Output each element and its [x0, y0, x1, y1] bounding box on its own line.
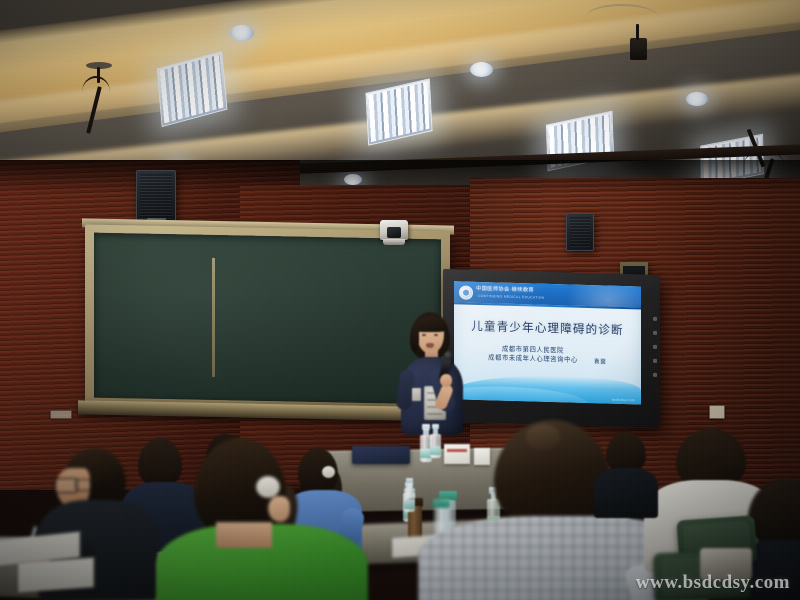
ear — [268, 496, 290, 522]
bezel-button[interactable] — [653, 359, 657, 363]
presenter-name-badge — [412, 388, 421, 401]
notebook-left-2 — [18, 557, 94, 592]
slide-presenter-name: 袁茵 — [594, 357, 606, 365]
bezel-button[interactable] — [653, 345, 657, 349]
bottle-label — [404, 500, 415, 508]
presenter-eye-right — [434, 334, 438, 336]
watermark: www.bsdcdsy.com — [636, 572, 790, 594]
slide-org-line-2: 成都市未成年人心理咨询中心 — [480, 353, 586, 365]
wall-top-shadow — [0, 160, 800, 194]
bezel-button[interactable] — [653, 373, 657, 377]
hanging-wire — [586, 4, 658, 30]
slide-organization: 成都市第四人民医院 成都市未成年人心理咨询中心 — [480, 344, 586, 365]
slide-wave-highlight — [454, 384, 589, 404]
presenter-hand — [440, 374, 452, 387]
wall-speaker-right — [566, 213, 594, 251]
bottle-body — [430, 434, 441, 458]
water-bottle-right-1 — [430, 424, 441, 458]
wall-speaker-left — [136, 170, 176, 226]
water-bottle-right-2 — [404, 478, 415, 512]
ceiling-hanging-fixture-right — [612, 10, 668, 70]
bezel-button[interactable] — [653, 317, 657, 321]
bottle-body — [404, 488, 415, 512]
wall-plate-left — [50, 410, 72, 419]
slide-footer-text: bsdcdsy.com — [612, 398, 635, 403]
fixture-rod — [636, 24, 639, 40]
downlight-2 — [470, 62, 493, 77]
wall-outlet — [709, 405, 725, 419]
audience-person-green-shirt — [172, 438, 352, 600]
slide-title: 儿童青少年心理障碍的诊断 — [454, 317, 641, 338]
projector-box — [630, 38, 647, 60]
camera-base — [383, 239, 405, 245]
eyeglasses-arm — [75, 479, 91, 491]
blackboard-panel-divider — [212, 258, 215, 377]
downlight-3 — [686, 92, 708, 106]
audience-person-far-right — [596, 432, 654, 508]
projection-screen: 中国医师协会·继续教育 CONTINUING MEDICAL EDUCATION… — [443, 269, 660, 428]
camera-body — [380, 220, 408, 240]
slide-header-text: 中国医师协会·继续教育 — [476, 286, 534, 294]
presenter-eye-left — [422, 334, 426, 336]
presentation-slide: 中国医师协会·继续教育 CONTINUING MEDICAL EDUCATION… — [454, 281, 641, 404]
ceiling-hanging-fixture-left — [78, 62, 118, 132]
downlight-1 — [230, 25, 254, 41]
bottle-label — [430, 446, 441, 454]
print-line — [427, 413, 443, 415]
speaker-grille — [570, 217, 590, 247]
presenter-mouth — [426, 343, 434, 348]
blackboard-surface — [94, 233, 441, 405]
slide-logo-icon — [459, 285, 473, 299]
folder-on-desk — [352, 446, 410, 464]
bezel-button[interactable] — [653, 331, 657, 335]
ptz-camera — [378, 216, 410, 246]
speaker-grille — [140, 174, 172, 222]
hair-part — [526, 424, 560, 450]
neck — [216, 522, 272, 548]
camera-lens-icon — [387, 227, 401, 238]
lecture-hall-photo: 中国医师协会·继续教育 CONTINUING MEDICAL EDUCATION… — [0, 0, 800, 600]
hair-scrunchie — [256, 476, 280, 498]
slide-header-subtext: CONTINUING MEDICAL EDUCATION — [478, 294, 544, 300]
troffer-lamps — [369, 82, 430, 142]
presenter-hair-side — [410, 324, 419, 352]
screen-bezel-buttons[interactable] — [652, 312, 657, 383]
torso — [594, 468, 658, 518]
